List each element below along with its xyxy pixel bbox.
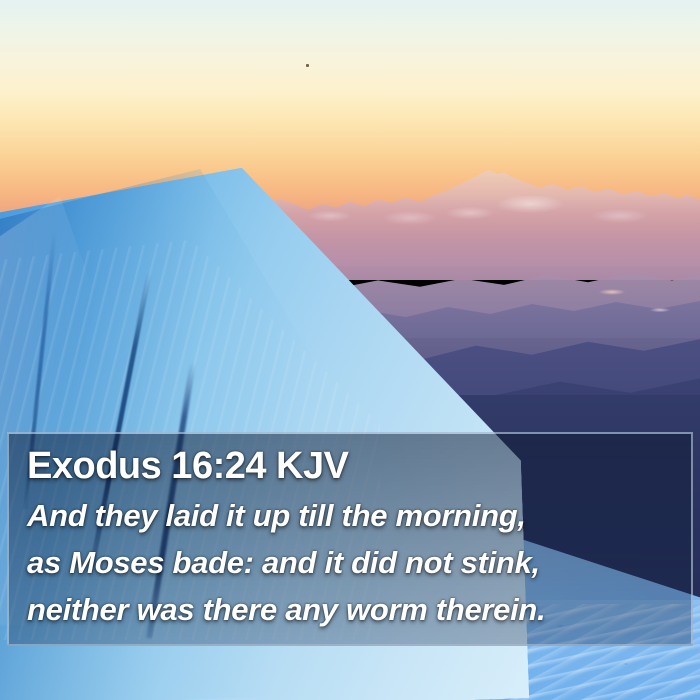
verse-text-line-1: And they laid it up till the morning, (27, 492, 673, 539)
verse-text-body: And they laid it up till the morning, as… (27, 492, 673, 633)
verse-text-line-2: as Moses bade: and it did not stink, (27, 539, 673, 586)
verse-reference-title: Exodus 16:24 KJV (27, 444, 673, 488)
bird-speck-icon (306, 64, 309, 67)
verse-image-canvas: Exodus 16:24 KJV And they laid it up til… (0, 0, 700, 700)
verse-overlay-panel: Exodus 16:24 KJV And they laid it up til… (7, 432, 693, 646)
verse-text-line-3: neither was there any worm therein. (27, 586, 673, 633)
